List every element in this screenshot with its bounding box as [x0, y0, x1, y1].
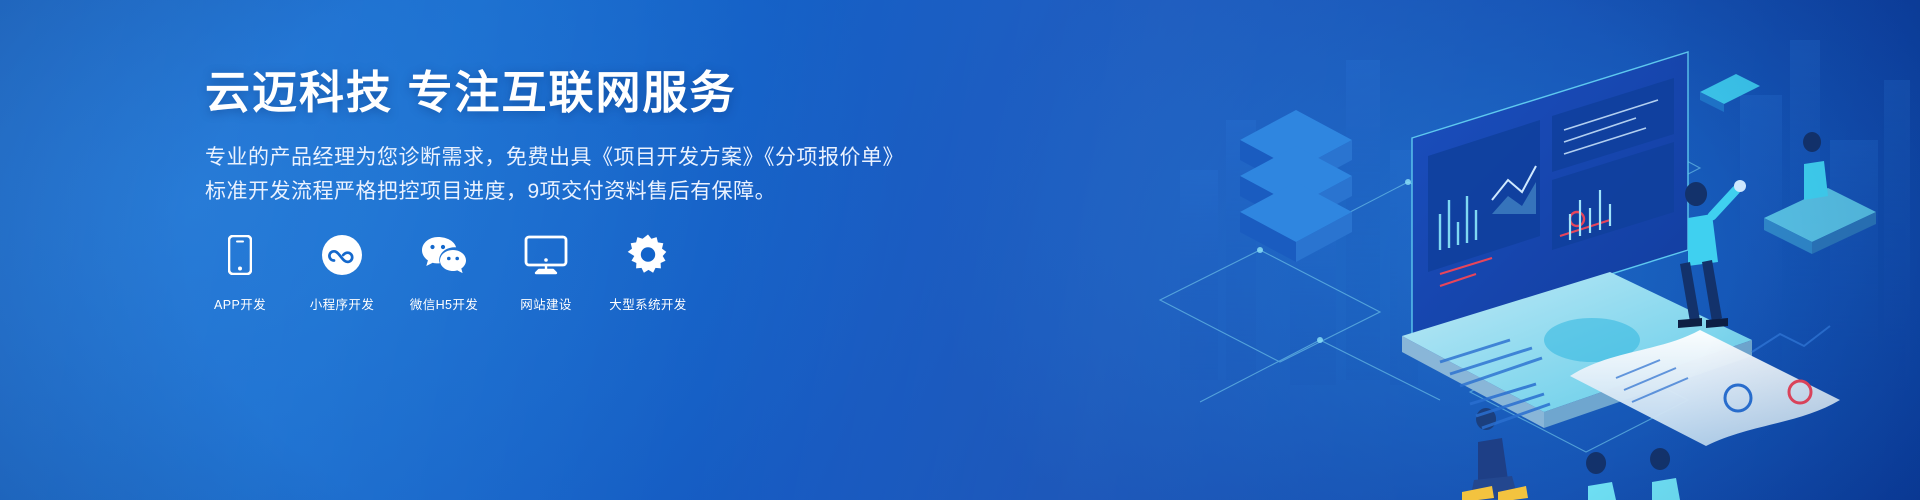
monitor-icon [524, 232, 568, 278]
service-item-website[interactable]: 网站建设 [511, 232, 581, 313]
subtitle-line-1: 专业的产品经理为您诊断需求，免费出具《项目开发方案》《分项报价单》 [205, 141, 935, 175]
subtitle-line-2: 标准开发流程严格把控项目进度，9项交付资料售后有保障。 [205, 175, 935, 209]
banner-copy: 云迈科技 专注互联网服务 专业的产品经理为您诊断需求，免费出具《项目开发方案》《… [205, 66, 935, 209]
service-label: 微信H5开发 [410, 294, 478, 313]
mobile-phone-icon [228, 232, 252, 278]
service-item-large-system[interactable]: 大型系统开发 [613, 232, 683, 313]
service-label: 网站建设 [520, 294, 572, 313]
mini-program-icon [321, 232, 363, 278]
wechat-icon [420, 232, 468, 278]
gear-icon [627, 232, 669, 278]
service-label: APP开发 [214, 294, 266, 313]
service-item-wechat-h5[interactable]: 微信H5开发 [409, 232, 479, 313]
service-label: 小程序开发 [310, 294, 375, 313]
page-title: 云迈科技 专注互联网服务 [205, 66, 935, 119]
service-item-mini-program[interactable]: 小程序开发 [307, 232, 377, 313]
service-item-app[interactable]: APP开发 [205, 232, 275, 313]
isometric-tech-illustration [1140, 0, 1920, 500]
service-label: 大型系统开发 [609, 294, 686, 313]
banner-subtitle: 专业的产品经理为您诊断需求，免费出具《项目开发方案》《分项报价单》 标准开发流程… [205, 141, 935, 209]
hero-banner: 云迈科技 专注互联网服务 专业的产品经理为您诊断需求，免费出具《项目开发方案》《… [0, 0, 1920, 500]
service-list: APP开发 小程序开发 微信 [205, 232, 683, 313]
